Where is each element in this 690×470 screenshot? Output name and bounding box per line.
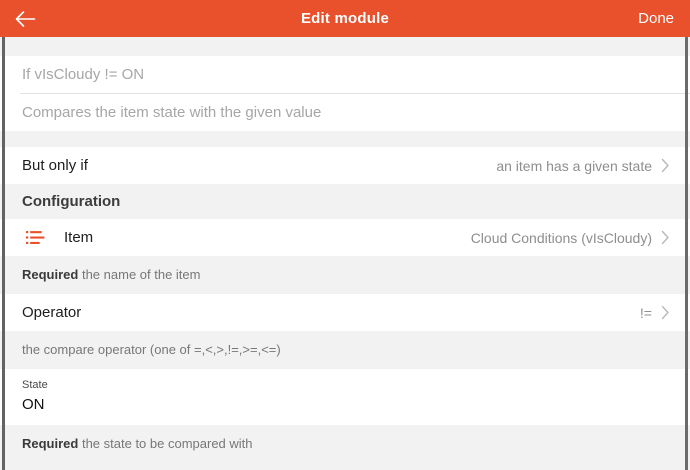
but-only-if-card: But only if an item has a given state [0, 147, 690, 184]
done-button[interactable]: Done [638, 10, 676, 27]
config-row-operator-label: Operator [22, 304, 81, 321]
page-title: Edit module [0, 10, 690, 27]
but-only-if-label: But only if [22, 157, 88, 174]
page-edge-left [2, 37, 5, 470]
but-only-if-value: an item has a given state [496, 158, 652, 174]
module-summary-card: If vIsCloudy != ON Compares the item sta… [0, 56, 690, 131]
condition-expression-row: If vIsCloudy != ON [0, 56, 690, 93]
condition-description-text: Compares the item state with the given v… [22, 104, 321, 121]
app-header: Edit module Done [0, 0, 690, 37]
settings-scroll-area[interactable]: If vIsCloudy != ON Compares the item sta… [0, 37, 690, 470]
operator-help-description: the compare operator (one of =,<,>,!=,>=… [22, 342, 281, 357]
state-field[interactable]: State ON [0, 369, 690, 425]
state-field-label: State [22, 378, 670, 392]
operator-card: Operator != [0, 294, 690, 331]
spacer-after-summary [0, 131, 690, 147]
state-field-value[interactable]: ON [22, 394, 670, 415]
condition-description-row: Compares the item state with the given v… [0, 94, 690, 131]
item-help-required: Required [22, 267, 78, 282]
state-help-text: Required the state to be compared with [0, 425, 690, 463]
list-icon [22, 230, 48, 245]
config-row-item-value: Cloud Conditions (vIsCloudy) [471, 230, 652, 246]
edit-module-screen: Edit module Done If vIsCloudy != ON Comp… [0, 0, 690, 470]
condition-expression-text: If vIsCloudy != ON [22, 66, 144, 83]
spacer-top [0, 37, 690, 56]
item-help-text: Required the name of the item [0, 256, 690, 294]
state-help-description: the state to be compared with [82, 436, 253, 451]
config-row-item-label: Item [64, 229, 93, 246]
config-row-operator[interactable]: Operator != [0, 294, 690, 331]
page-edge-right [685, 37, 688, 470]
config-row-operator-value: != [640, 305, 652, 321]
chevron-right-icon [661, 230, 670, 245]
chevron-right-icon [661, 158, 670, 173]
item-card: Item Cloud Conditions (vIsCloudy) [0, 219, 690, 256]
operator-help-text: the compare operator (one of =,<,>,!=,>=… [0, 331, 690, 369]
state-help-required: Required [22, 436, 78, 451]
back-arrow-icon[interactable] [14, 4, 44, 34]
configuration-section-header: Configuration [0, 184, 690, 219]
config-row-item[interactable]: Item Cloud Conditions (vIsCloudy) [0, 219, 690, 256]
but-only-if-row[interactable]: But only if an item has a given state [0, 147, 690, 184]
chevron-right-icon [661, 305, 670, 320]
item-help-description: the name of the item [82, 267, 201, 282]
